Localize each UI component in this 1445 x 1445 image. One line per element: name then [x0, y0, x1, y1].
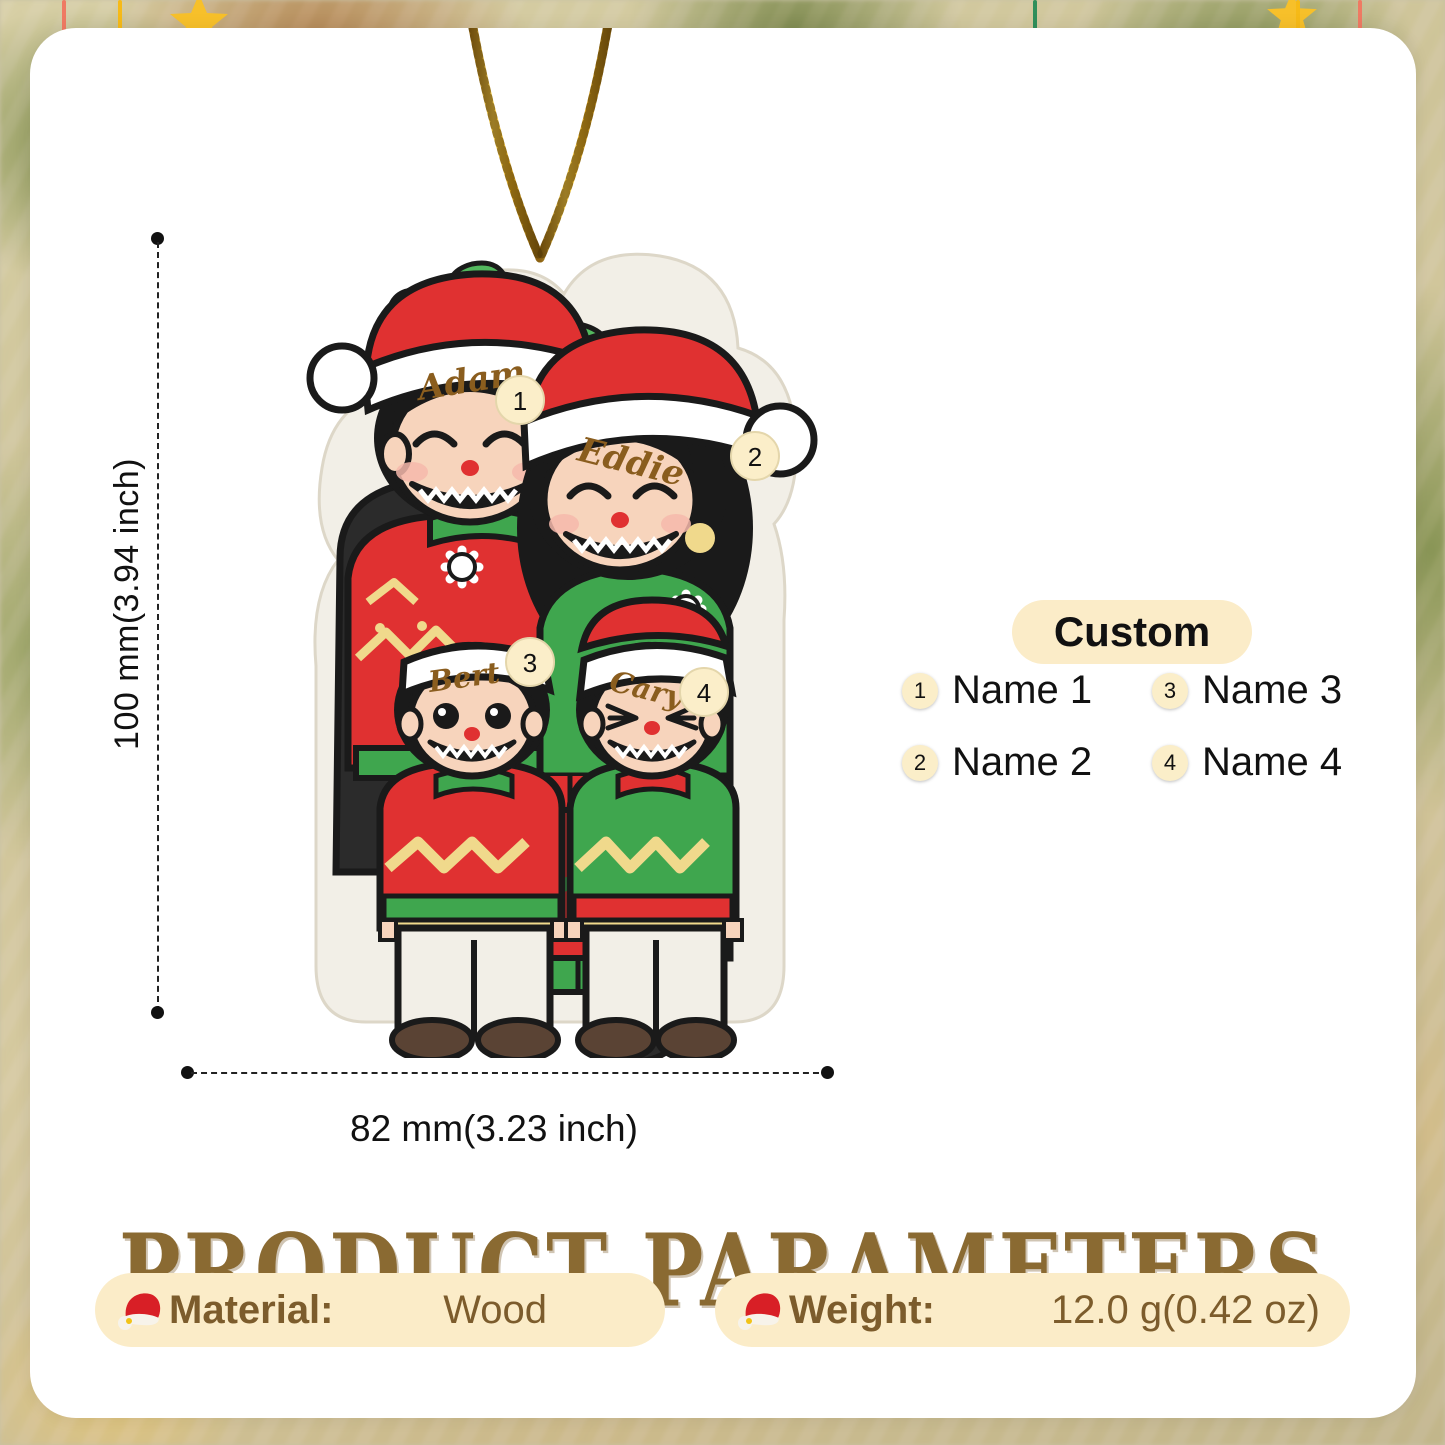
material-value: Wood	[443, 1288, 547, 1333]
custom-badge-3: 3	[1152, 673, 1188, 709]
svg-text:4: 4	[697, 678, 711, 708]
custom-name-row-1: 1 Name 1	[902, 668, 1092, 713]
custom-name-row-2: 2 Name 2	[902, 740, 1092, 785]
weight-value: 12.0 g(0.42 oz)	[1051, 1288, 1320, 1333]
ornament-badge-2: 2	[731, 432, 779, 480]
svg-text:2: 2	[748, 442, 762, 472]
custom-label-2: Name 2	[952, 740, 1092, 785]
custom-title-text: Custom	[1054, 608, 1210, 656]
figure-child-left: Bert	[380, 642, 570, 1058]
dimension-line-vertical	[157, 242, 159, 1012]
weight-label: Weight:	[789, 1288, 935, 1333]
dimension-width-label: 82 mm(3.23 inch)	[350, 1108, 638, 1150]
svg-text:1: 1	[513, 386, 527, 416]
ornament-badge-4: 4	[680, 668, 728, 716]
ornament-badge-1: 1	[496, 376, 544, 424]
custom-label-4: Name 4	[1202, 740, 1342, 785]
figure-child-right: Cary	[566, 600, 742, 1058]
material-label: Material:	[169, 1288, 334, 1333]
family-ornament-artwork: Adam	[180, 228, 820, 1058]
ornament-badge-3: 3	[506, 638, 554, 686]
custom-label-3: Name 3	[1202, 668, 1342, 713]
product-dimensions-note: The product dimensions are manually meas…	[30, 1417, 1416, 1418]
santa-hat-icon-weight	[737, 1290, 783, 1330]
custom-badge-1: 1	[902, 673, 938, 709]
custom-badge-2: 2	[902, 745, 938, 781]
custom-name-row-3: 3 Name 3	[1152, 668, 1342, 713]
dimension-dot-bottom-end	[821, 1066, 834, 1079]
dimension-height-label: 100 mm(3.94 inch)	[108, 458, 147, 750]
dimension-dot-bottom-left	[151, 1006, 164, 1019]
santa-hat-icon-material	[117, 1290, 163, 1330]
material-pill: Material: Wood	[95, 1273, 665, 1347]
custom-label-1: Name 1	[952, 668, 1092, 713]
custom-section-title: Custom	[1012, 600, 1252, 664]
dimension-line-horizontal	[191, 1072, 829, 1074]
custom-name-row-4: 4 Name 4	[1152, 740, 1342, 785]
weight-pill: Weight: 12.0 g(0.42 oz)	[715, 1273, 1350, 1347]
svg-text:3: 3	[523, 648, 537, 678]
product-info-card: Adam	[30, 28, 1416, 1418]
custom-badge-4: 4	[1152, 745, 1188, 781]
